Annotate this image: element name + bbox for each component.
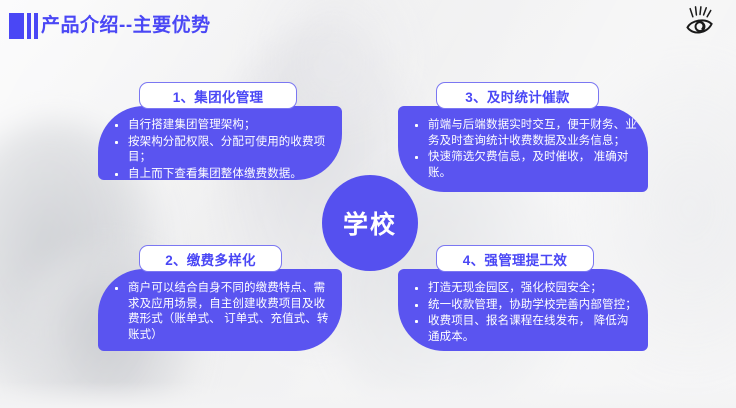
- feature-block-3-heading-label: 3、及时统计催款: [465, 86, 569, 106]
- title-accent-bars: [9, 13, 38, 39]
- slide-canvas: 产品介绍--主要优势 自行搭建集团管理架构； 按架构分配权限、分配可使用的收费项…: [0, 0, 736, 408]
- list-item: 商户可以结合自身不同的缴费特点、需求及应用场景，自主创建收费项目及收费形式（账单…: [110, 281, 332, 343]
- list-item: 前端与后端数据实时交互，便于财务、业务及时查询统计收费数据及业务信息；: [410, 118, 638, 149]
- slide-header: 产品介绍--主要优势: [0, 0, 736, 48]
- feature-block-2-body: 商户可以结合自身不同的缴费特点、需求及应用场景，自主创建收费项目及收费形式（账单…: [98, 269, 342, 351]
- list-item: 统一收款管理，协助学校完善内部管控；: [410, 298, 638, 314]
- feature-block-4-bullets: 打造无现金园区，强化校园安全； 统一收款管理，协助学校完善内部管控； 收费项目、…: [410, 281, 638, 345]
- feature-block-3-body: 前端与后端数据实时交互，便于财务、业务及时查询统计收费数据及业务信息； 快速筛选…: [398, 106, 648, 192]
- list-item: 快速筛选欠费信息，及时催收， 准确对账。: [410, 150, 638, 181]
- center-hub[interactable]: 学校: [322, 175, 418, 271]
- accent-bar-thin: [34, 13, 38, 39]
- page-title: 产品介绍--主要优势: [41, 12, 211, 39]
- feature-block-4-body: 打造无现金园区，强化校园安全； 统一收款管理，协助学校完善内部管控； 收费项目、…: [398, 269, 648, 351]
- feature-block-4-heading[interactable]: 4、强管理提工效: [436, 245, 594, 272]
- accent-bar-thin: [27, 13, 31, 39]
- accent-bar-thick: [9, 13, 24, 39]
- feature-block-4-heading-label: 4、强管理提工效: [463, 249, 567, 269]
- feature-block-2-heading[interactable]: 2、缴费多样化: [139, 245, 282, 272]
- center-hub-label: 学校: [343, 205, 397, 241]
- feature-block-2-bullets: 商户可以结合自身不同的缴费特点、需求及应用场景，自主创建收费项目及收费形式（账单…: [110, 281, 332, 343]
- feature-block-3-heading[interactable]: 3、及时统计催款: [436, 82, 599, 109]
- feature-block-2-heading-label: 2、缴费多样化: [165, 249, 256, 269]
- feature-block-1-bullets: 自行搭建集团管理架构； 按架构分配权限、分配可使用的收费项目； 自上而下查看集团…: [110, 118, 332, 182]
- eye-logo-icon: [682, 6, 718, 40]
- list-item: 自行搭建集团管理架构；: [110, 118, 332, 134]
- list-item: 按架构分配权限、分配可使用的收费项目；: [110, 135, 332, 166]
- feature-block-1-heading[interactable]: 1、集团化管理: [139, 82, 297, 109]
- list-item: 打造无现金园区，强化校园安全；: [410, 281, 638, 297]
- feature-block-1-body: 自行搭建集团管理架构； 按架构分配权限、分配可使用的收费项目； 自上而下查看集团…: [98, 106, 342, 180]
- list-item: 自上而下查看集团整体缴费数据。: [110, 167, 332, 183]
- list-item: 收费项目、报名课程在线发布， 降低沟通成本。: [410, 314, 638, 345]
- bottom-fade: [0, 382, 736, 408]
- feature-block-3-bullets: 前端与后端数据实时交互，便于财务、业务及时查询统计收费数据及业务信息； 快速筛选…: [410, 118, 638, 181]
- feature-block-1-heading-label: 1、集团化管理: [173, 86, 264, 106]
